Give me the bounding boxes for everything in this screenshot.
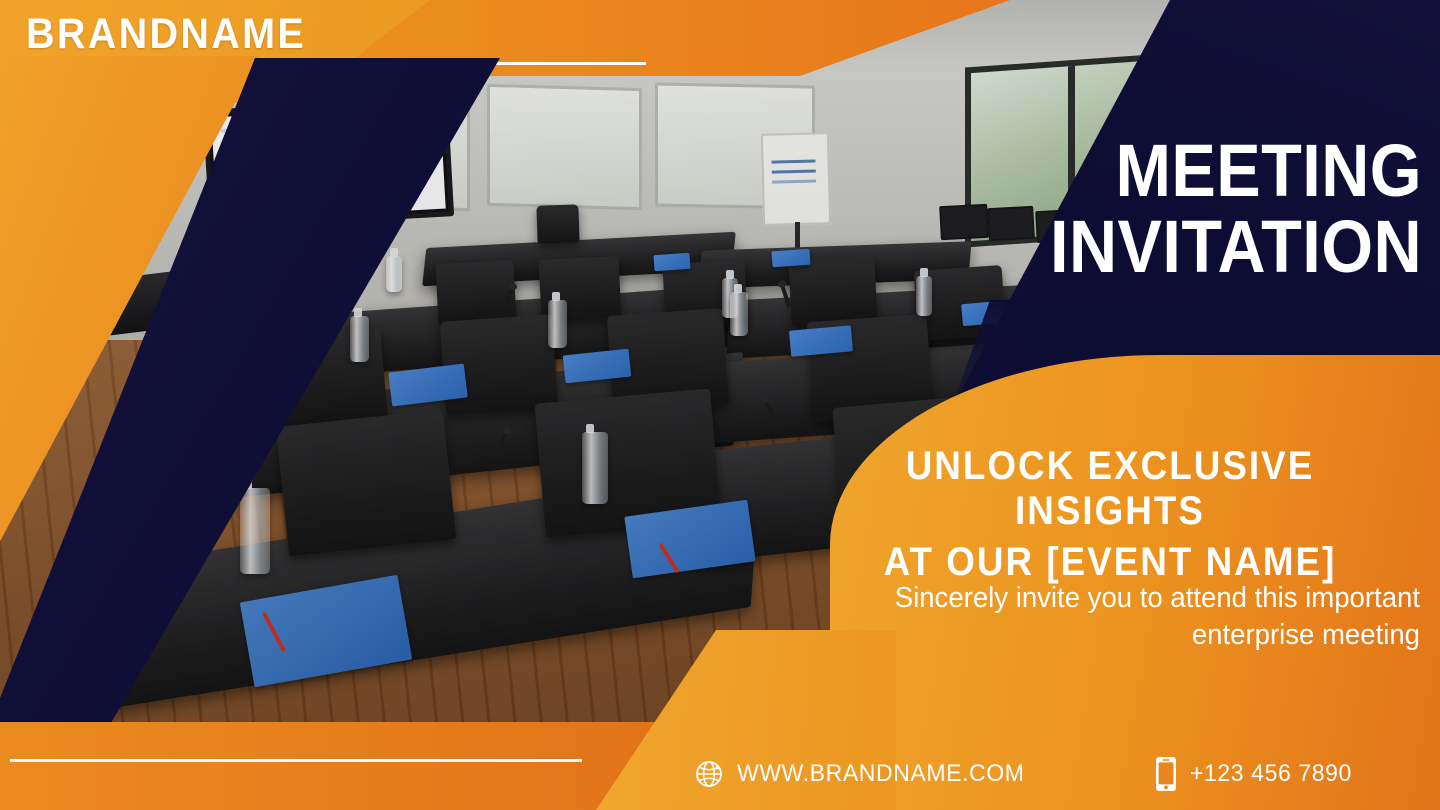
website-text: WWW.BRANDNAME.COM	[737, 760, 1025, 788]
mobile-phone-icon	[1155, 756, 1177, 792]
phone-text: +123 456 7890	[1190, 760, 1352, 788]
page-title: MEETING INVITATION	[782, 136, 1422, 283]
meeting-invitation-poster: BRANDNAME MEETING INVITATION UNLOCK EXCL…	[0, 0, 1440, 810]
website-contact[interactable]: WWW.BRANDNAME.COM	[694, 759, 1037, 789]
phone-contact[interactable]: +123 456 7890	[1155, 756, 1359, 792]
brand-logo-text: BRANDNAME	[26, 10, 306, 59]
footer-rule	[10, 759, 582, 762]
globe-icon	[694, 759, 724, 789]
invitation-body-text: Sincerely invite you to attend this impo…	[831, 580, 1420, 654]
title-line-1: MEETING	[846, 136, 1422, 206]
headline: UNLOCK EXCLUSIVE INSIGHTS AT OUR [EVENT …	[800, 444, 1420, 584]
title-line-2: INVITATION	[846, 212, 1422, 282]
footer-contacts: WWW.BRANDNAME.COM +123 456 7890	[694, 756, 1440, 792]
headline-line-1: UNLOCK EXCLUSIVE INSIGHTS	[825, 444, 1395, 534]
headline-line-2: AT OUR [EVENT NAME]	[825, 540, 1395, 585]
